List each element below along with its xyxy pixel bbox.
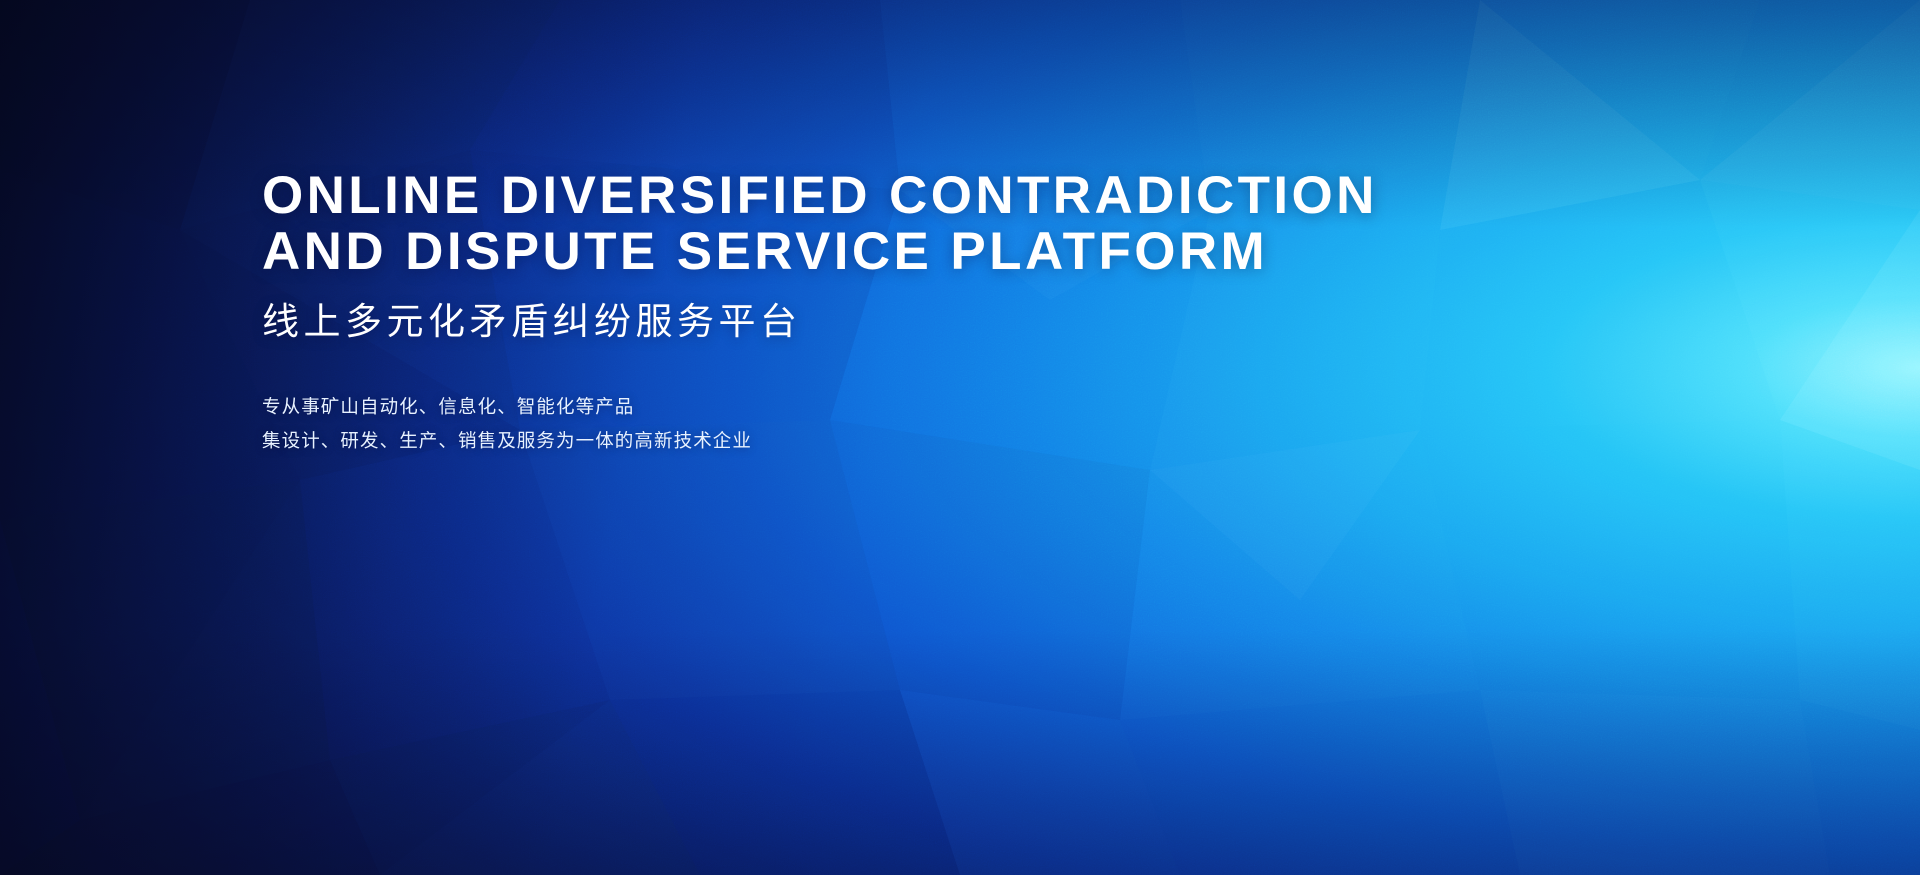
- banner-description: 专从事矿山自动化、信息化、智能化等产品 集设计、研发、生产、销售及服务为一体的高…: [262, 390, 1462, 458]
- banner-headline-chinese: 线上多元化矛盾纠纷服务平台: [262, 298, 1462, 346]
- hero-banner: ONLINE DIVERSIFIED CONTRADICTION AND DIS…: [0, 0, 1920, 875]
- banner-content: ONLINE DIVERSIFIED CONTRADICTION AND DIS…: [262, 168, 1462, 458]
- banner-description-line-1: 专从事矿山自动化、信息化、智能化等产品: [262, 390, 1462, 424]
- banner-description-line-2: 集设计、研发、生产、销售及服务为一体的高新技术企业: [262, 424, 1462, 458]
- banner-headline-english: ONLINE DIVERSIFIED CONTRADICTION AND DIS…: [262, 168, 1462, 280]
